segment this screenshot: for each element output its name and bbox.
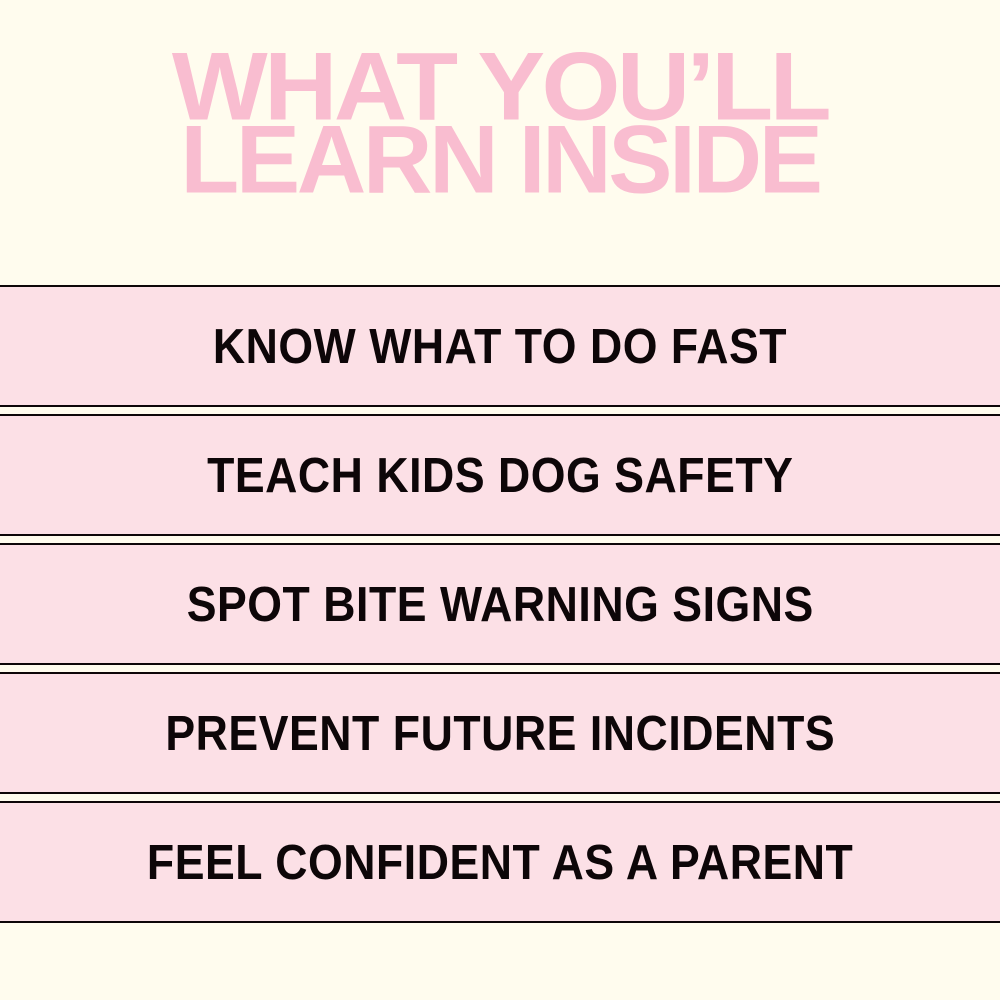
benefit-list: KNOW WHAT TO DO FAST TEACH KIDS DOG SAFE… [0,285,1000,923]
list-item-label: SPOT BITE WARNING SIGNS [186,575,813,632]
list-item-label: TEACH KIDS DOG SAFETY [207,446,793,503]
list-item: PREVENT FUTURE INCIDENTS [0,672,1000,794]
list-item-label: KNOW WHAT TO DO FAST [213,317,787,374]
list-item: SPOT BITE WARNING SIGNS [0,543,1000,665]
list-item-label: FEEL CONFIDENT AS A PARENT [147,833,853,890]
list-item: FEEL CONFIDENT AS A PARENT [0,801,1000,923]
page-title-line-2: LEARN INSIDE [0,121,1000,200]
list-item: KNOW WHAT TO DO FAST [0,285,1000,407]
page-title: WHAT YOU’LL LEARN INSIDE [0,48,1000,191]
list-item: TEACH KIDS DOG SAFETY [0,414,1000,536]
list-item-label: PREVENT FUTURE INCIDENTS [165,704,835,761]
poster-canvas: WHAT YOU’LL LEARN INSIDE KNOW WHAT TO DO… [0,0,1000,1000]
